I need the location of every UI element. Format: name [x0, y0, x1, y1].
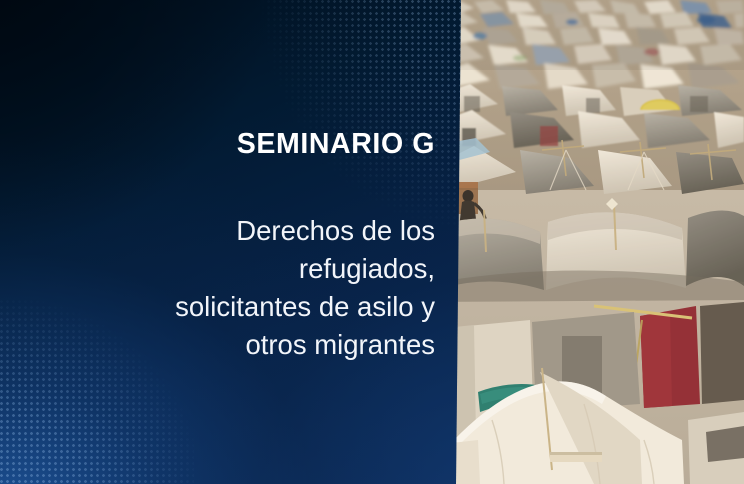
refugee-camp-illustration	[444, 0, 744, 484]
title-line-3: solicitantes de asilo y	[30, 288, 435, 326]
title-text-block: SEMINARIO G Derechos de los refugiados, …	[30, 128, 435, 364]
refugee-camp-photo	[444, 0, 744, 484]
title-line-2: refugiados,	[30, 250, 435, 288]
seminar-label: SEMINARIO G	[30, 128, 435, 161]
title-line-4: otros migrantes	[30, 326, 435, 364]
title-panel: SEMINARIO G Derechos de los refugiados, …	[0, 0, 470, 484]
page-title: Derechos de los refugiados, solicitantes…	[30, 161, 435, 364]
title-slide: SEMINARIO G Derechos de los refugiados, …	[0, 0, 744, 484]
title-line-1: Derechos de los	[30, 212, 435, 250]
